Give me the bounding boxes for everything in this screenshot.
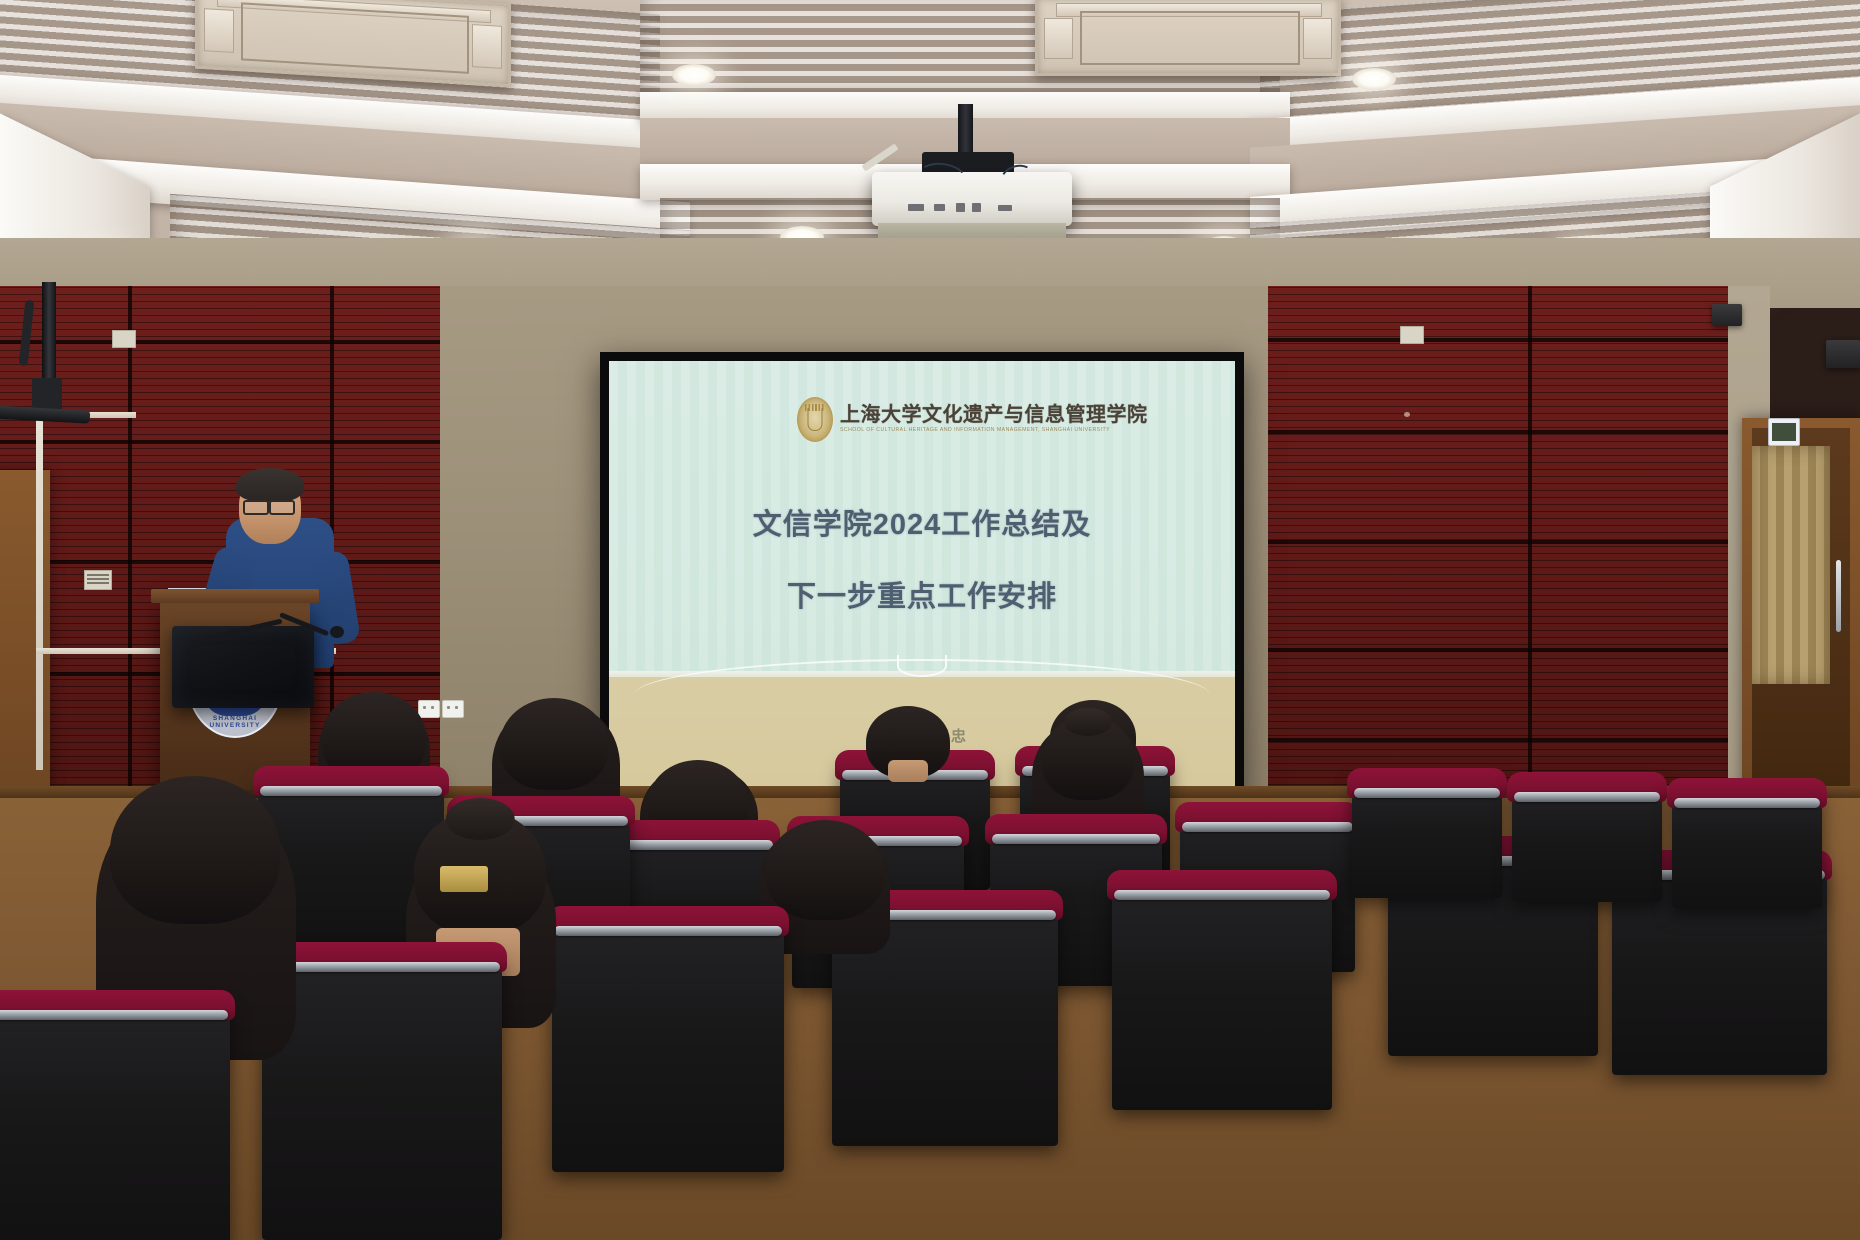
seat-headrest-bar — [0, 1010, 228, 1020]
speaker-hair — [236, 468, 304, 502]
wall-sign-plate — [1400, 326, 1424, 344]
ac-vent-slot — [1044, 18, 1073, 58]
audience-head — [500, 698, 608, 790]
hair-clip — [440, 866, 488, 892]
slide-logo-english: SCHOOL OF CULTURAL HERITAGE AND INFORMAT… — [840, 428, 1148, 433]
sign-line — [87, 582, 109, 584]
door-curtain — [1752, 446, 1830, 684]
speaker-eyeglasses — [243, 500, 269, 515]
auditorium-seat — [1352, 778, 1502, 898]
seat-headrest-bar — [1114, 890, 1330, 900]
recessed-downlight — [672, 64, 716, 86]
seat-headrest-bar — [1354, 788, 1500, 798]
recessed-downlight — [1352, 68, 1396, 90]
auditorium-seat — [1512, 782, 1662, 902]
shanghai-university-seal-icon — [797, 397, 833, 442]
audience-head — [110, 776, 280, 924]
ac-vent-slot — [204, 8, 234, 52]
ac-vent-slot — [472, 24, 502, 68]
wall-seam — [0, 440, 470, 444]
podium-top-surface — [151, 589, 319, 603]
audience-head — [766, 820, 884, 920]
wall-speaker — [1712, 304, 1742, 326]
seat-headrest-bar — [1674, 798, 1820, 808]
seat-headrest-bar — [1514, 792, 1660, 802]
slide-title-line-1: 文信学院2024工作总结及 — [609, 501, 1235, 543]
auditorium-seat — [1672, 788, 1822, 908]
audience-neck — [888, 760, 928, 782]
band-decor-notch — [897, 655, 947, 677]
wall-speaker — [1826, 340, 1860, 368]
wall-power-socket[interactable] — [418, 700, 440, 718]
auditorium-scene: 上海大学文化遗产与信息管理学院 SCHOOL OF CULTURAL HERIT… — [0, 0, 1860, 1240]
projector-port — [998, 205, 1012, 211]
auditorium-seat — [0, 1000, 230, 1240]
wall-control-panel[interactable] — [1768, 418, 1800, 446]
slide-logo-chinese: 上海大学文化遗产与信息管理学院 — [840, 405, 1148, 425]
projector-port — [956, 203, 965, 212]
slide-title-line-2: 下一步重点工作安排 — [609, 573, 1235, 615]
wall-seam — [1268, 338, 1738, 342]
seat-headrest-bar — [260, 786, 442, 796]
podium-logo-english: SHANGHAI UNIVERSITY — [189, 715, 281, 729]
wall-scuff — [1404, 412, 1410, 417]
microphone-head — [330, 626, 344, 638]
auditorium-seat — [552, 916, 784, 1172]
door-handle[interactable] — [1836, 560, 1841, 632]
ceiling-mounted-projector — [872, 172, 1072, 226]
wall-sign-plate — [84, 570, 112, 590]
wall-seam — [0, 340, 470, 344]
ac-grille — [1080, 11, 1300, 65]
wall-seam — [128, 286, 132, 806]
wall-seam — [1268, 738, 1738, 742]
wall-sign-plate — [112, 330, 136, 348]
seat-headrest-bar — [992, 834, 1160, 844]
projector-port — [908, 204, 924, 211]
seat-headrest-bar — [554, 926, 782, 936]
wall-seam — [1268, 540, 1738, 544]
wall-trim — [36, 412, 43, 770]
panel-display — [1772, 423, 1796, 441]
projector-port — [972, 203, 981, 212]
auditorium-seat — [262, 952, 502, 1240]
projector-port — [934, 204, 945, 211]
wall-seam — [1528, 286, 1532, 806]
ceiling-ac-cassette — [1035, 0, 1341, 76]
seat-headrest-bar — [1182, 822, 1353, 832]
wood-wall-right — [1268, 286, 1738, 806]
ac-grille — [241, 3, 468, 74]
wall-power-socket[interactable] — [442, 700, 464, 718]
sign-line — [87, 574, 109, 576]
wall-seam — [1268, 648, 1738, 652]
presenter-monitor[interactable] — [172, 626, 314, 708]
ceiling-rail-mount — [42, 282, 56, 390]
wall-seam — [1268, 430, 1738, 434]
sign-line — [87, 578, 109, 580]
ac-vent-slot — [1303, 18, 1332, 58]
seat-headrest-bar — [264, 962, 500, 972]
audience-head — [1042, 716, 1134, 800]
auditorium-seat — [1112, 880, 1332, 1110]
slide-org-logo: 上海大学文化遗产与信息管理学院 SCHOOL OF CULTURAL HERIT… — [797, 397, 1148, 442]
speaker-eyeglasses — [269, 500, 295, 515]
